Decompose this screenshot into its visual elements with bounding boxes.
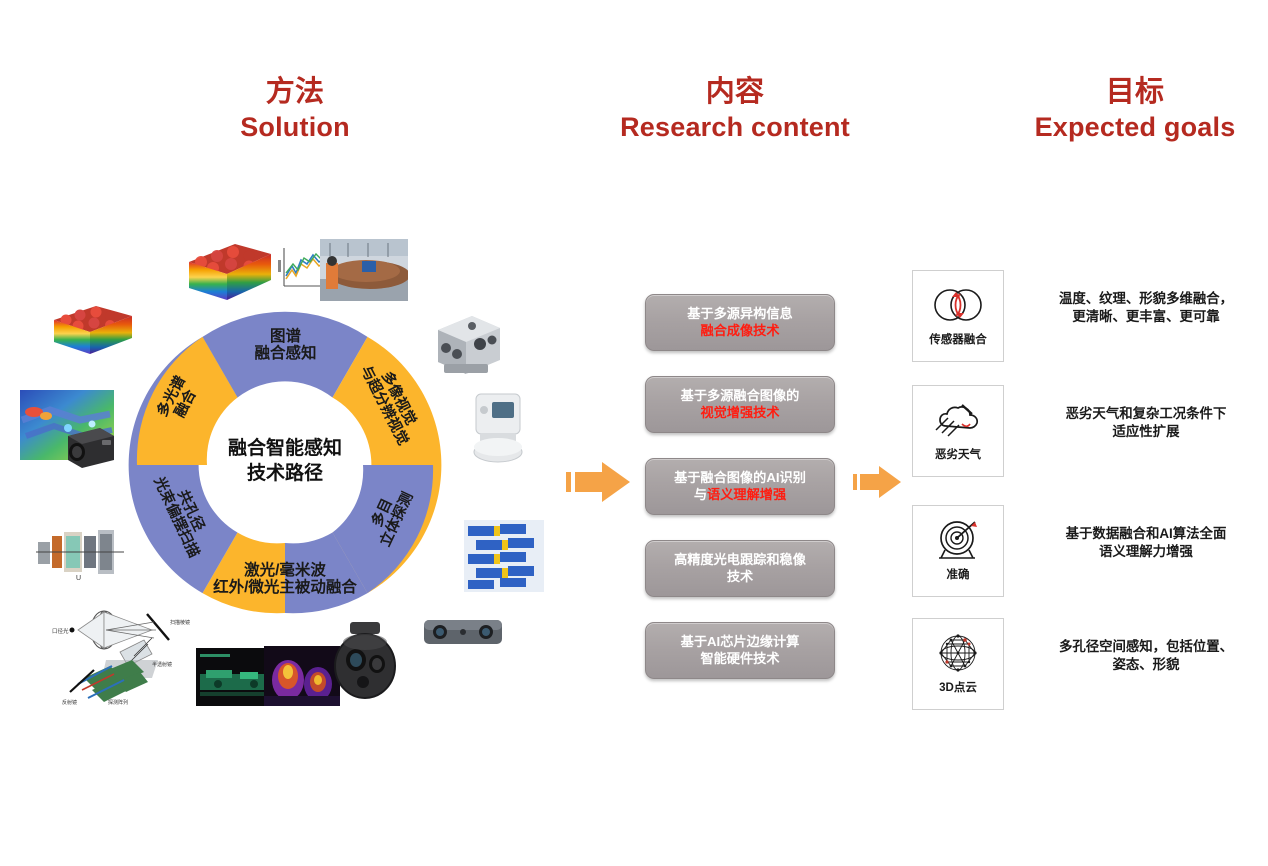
goal-row-bad-weather: 恶劣天气 恶劣天气和复杂工况条件下 适应性扩展 [912,385,1268,477]
industrial-pipe-photo-thumbnail [320,239,408,301]
donut-center-line1: 融合智能感知 [228,438,342,459]
donut-label-top-line1: 图谱 [270,328,301,345]
research-box-5[interactable]: 基于AI芯片边缘计算 智能硬件技术 [645,622,835,679]
research-box-5-line1: 基于AI芯片边缘计算 [681,634,800,649]
column-header-solution: 方法 Solution [155,76,435,143]
goal-text-3: 基于数据融合和AI算法全面 语义理解力增强 [1024,525,1268,561]
column-header-content: 内容 Research content [585,76,885,143]
research-box-4-line2: 技术 [727,569,753,584]
goal-text-2-line2: 适应性扩展 [1113,424,1180,439]
goal-text-4-line1: 多孔径空间感知，包括位置、 [1059,639,1233,654]
sensor-fusion-icon [929,280,987,330]
thermal-camera-thumbnail [62,424,118,470]
goal-card-accuracy[interactable]: 准确 [912,505,1004,597]
research-box-4[interactable]: 高精度光电跟踪和稳像 技术 [645,540,835,597]
structured-light-pattern-thumbnail [464,520,544,592]
research-box-2[interactable]: 基于多源融合图像的 视觉增强技术 [645,376,835,433]
research-box-3-line2-prefix: 与 [694,487,707,502]
goal-text-4-line2: 姿态、形貌 [1113,657,1180,672]
svg-text:半透射镜: 半透射镜 [152,661,172,668]
research-box-2-line1: 基于多源融合图像的 [681,388,800,403]
research-box-1[interactable]: 基于多源异构信息 融合成像技术 [645,294,835,351]
goal-card-label-1: 传感器融合 [929,334,987,347]
donut-label-top: 图谱 融合感知 [208,328,363,363]
goal-row-point-cloud: 3D点云 多孔径空间感知，包括位置、 姿态、形貌 [912,618,1268,710]
research-box-3[interactable]: 基于融合图像的AI识别 与语义理解增强 [645,458,835,515]
donut-center-title: 融合智能感知 技术路径 [180,436,390,486]
goal-text-1: 温度、纹理、形貌多维融合， 更清晰、更丰富、更可靠 [1024,290,1268,326]
research-box-5-line2: 智能硬件技术 [700,651,779,666]
arrow-content-to-goals [853,462,903,502]
donut-center-line2: 技术路径 [247,463,323,484]
column-header-solution-cn: 方法 [155,76,435,110]
goal-row-accuracy: 准确 基于数据融合和AI算法全面 语义理解力增强 [912,505,1268,597]
research-box-1-line1: 基于多源异构信息 [687,306,793,321]
donut-label-bottom-line1: 激光/毫米波 [244,562,326,579]
research-box-1-line2: 融合成像技术 [700,323,779,338]
goal-card-label-3: 准确 [947,569,970,582]
goal-card-label-2: 恶劣天气 [935,449,981,462]
goal-text-2-line1: 恶劣天气和复杂工况条件下 [1066,406,1227,421]
goal-card-bad-weather[interactable]: 恶劣天气 [912,385,1004,477]
bad-weather-icon [929,395,987,445]
svg-text:口径光: 口径光 [52,627,69,635]
goal-text-3-line2: 语义理解力增强 [1099,544,1193,559]
research-box-2-line2: 视觉增强技术 [700,405,779,420]
goal-text-4: 多孔径空间感知，包括位置、 姿态、形貌 [1024,638,1268,674]
solution-donut-chart: 图谱 融合感知 多像视觉 与超分辨视觉 多目 立体探测 激光/毫米波 红外/微光… [120,300,450,630]
research-box-3-line2: 语义理解增强 [707,487,786,502]
point-cloud-icon [929,628,987,678]
laser-optical-module-thumbnail: U [36,518,124,582]
gimbal-device-thumbnail [466,390,528,464]
goal-card-label-4: 3D点云 [939,682,977,695]
column-header-goals: 目标 Expected goals [1000,76,1268,143]
goal-text-1-line1: 温度、纹理、形貌多维融合， [1059,291,1233,306]
goal-card-point-cloud[interactable]: 3D点云 [912,618,1004,710]
research-box-4-line1: 高精度光电跟踪和稳像 [674,552,806,567]
eo-turret-thumbnail [330,620,402,706]
donut-label-bottom: 激光/毫米波 红外/微光主被动融合 [190,562,380,597]
column-header-content-en: Research content [585,112,885,143]
donut-label-top-line2: 融合感知 [254,345,316,362]
svg-text:U: U [76,575,81,582]
goal-text-2: 恶劣天气和复杂工况条件下 适应性扩展 [1024,405,1268,441]
goal-row-sensor-fusion: 传感器融合 温度、纹理、形貌多维融合， 更清晰、更丰富、更可靠 [912,270,1268,362]
column-header-goals-cn: 目标 [1000,76,1268,110]
goal-text-1-line2: 更清晰、更丰富、更可靠 [1072,309,1219,324]
thermal-vision-image-thumbnail [264,646,340,706]
research-box-3-line1: 基于融合图像的AI识别 [674,470,806,485]
svg-text:反射镜: 反射镜 [62,699,77,706]
column-header-content-cn: 内容 [585,76,885,110]
arrow-solution-to-content [566,458,632,506]
svg-text:探测阵列: 探测阵列 [108,699,128,706]
column-header-goals-en: Expected goals [1000,112,1268,143]
goal-text-3-line1: 基于数据融合和AI算法全面 [1066,526,1227,541]
goal-card-sensor-fusion[interactable]: 传感器融合 [912,270,1004,362]
column-header-solution-en: Solution [155,112,435,143]
donut-label-bottom-line2: 红外/微光主被动融合 [213,579,357,596]
target-accuracy-icon [929,515,987,565]
